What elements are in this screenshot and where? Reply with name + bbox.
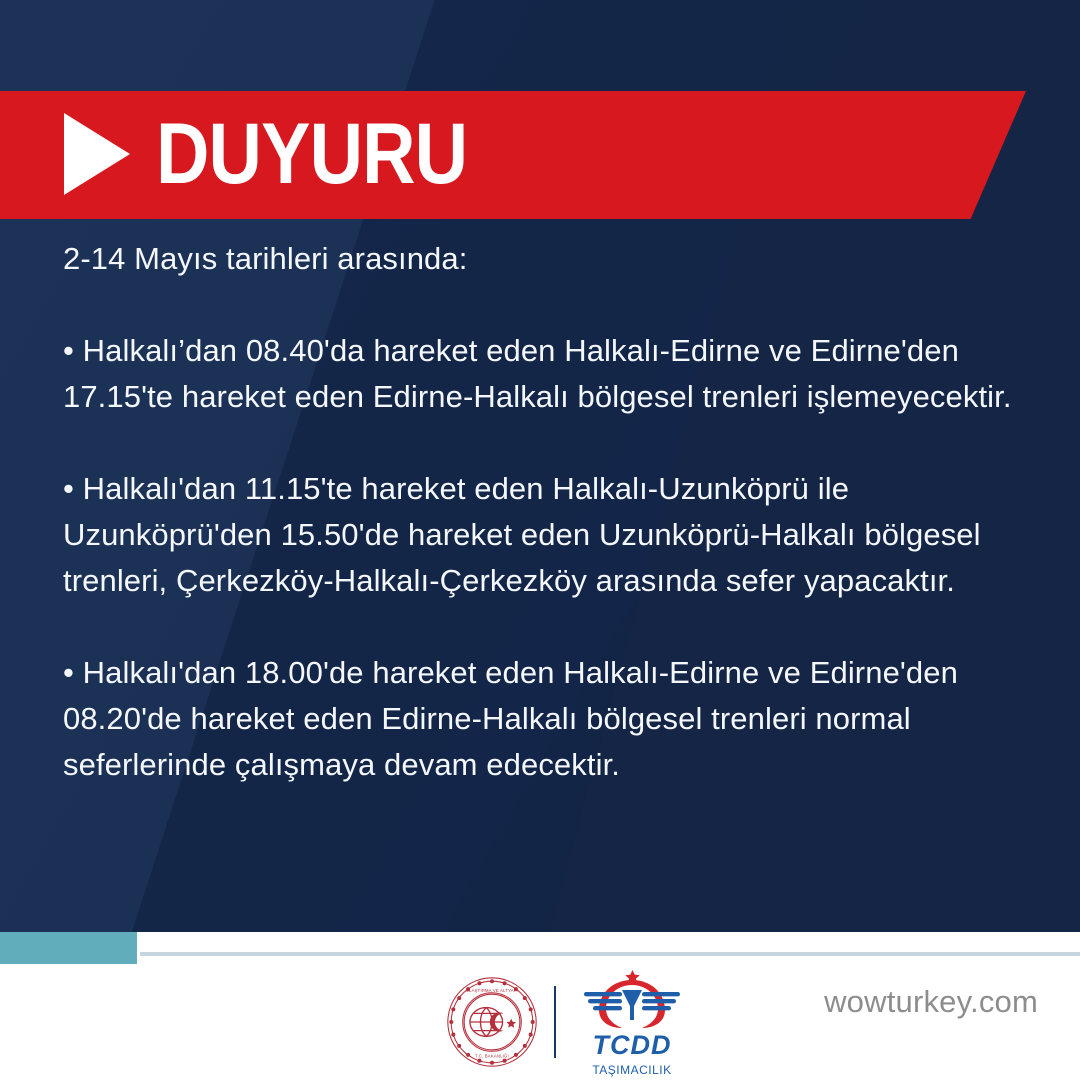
- tcdd-logo: TCDD TAŞIMACILIK: [572, 968, 692, 1076]
- bullet-paragraph-3: • Halkalı'dan 18.00'de hareket eden Halk…: [63, 650, 1023, 788]
- bullet-paragraph-2: • Halkalı'dan 11.15'te hareket eden Halk…: [63, 466, 1023, 604]
- announcement-poster: DUYURU 2-14 Mayıs tarihleri arasında: • …: [0, 0, 1080, 1080]
- turkish-ministry-seal-icon: ULAŞTIRMA VE ALTYAPI T.C. BAKANLIĞI: [444, 974, 540, 1070]
- teal-accent-block: [0, 932, 137, 964]
- banner-title: DUYURU: [156, 111, 467, 197]
- footer-logos: ULAŞTIRMA VE ALTYAPI T.C. BAKANLIĞI: [0, 964, 1080, 1080]
- logo-group: ULAŞTIRMA VE ALTYAPI T.C. BAKANLIĞI: [444, 972, 692, 1072]
- watermark: wowturkey.com: [824, 984, 1038, 1020]
- footer: ULAŞTIRMA VE ALTYAPI T.C. BAKANLIĞI: [0, 932, 1080, 1080]
- intro-line: 2-14 Mayıs tarihleri arasında:: [63, 236, 1023, 282]
- tcdd-word: TCDD: [593, 1032, 672, 1059]
- announcement-banner: DUYURU: [0, 91, 1026, 219]
- svg-text:ULAŞTIRMA VE ALTYAPI: ULAŞTIRMA VE ALTYAPI: [466, 988, 518, 993]
- play-triangle-icon: [64, 113, 130, 195]
- bullet-paragraph-1: • Halkalı’dan 08.40'da hareket eden Halk…: [63, 328, 1023, 420]
- svg-text:T.C. BAKANLIĞI: T.C. BAKANLIĞI: [475, 1054, 509, 1059]
- tcdd-subtitle: TAŞIMACILIK: [592, 1064, 671, 1076]
- footer-divider-line: [140, 952, 1080, 956]
- tcdd-winged-logo-icon: [572, 968, 692, 1030]
- logo-divider: [554, 986, 556, 1058]
- banner-inner: DUYURU: [0, 111, 518, 197]
- announcement-body: 2-14 Mayıs tarihleri arasında: • Halkalı…: [63, 236, 1023, 788]
